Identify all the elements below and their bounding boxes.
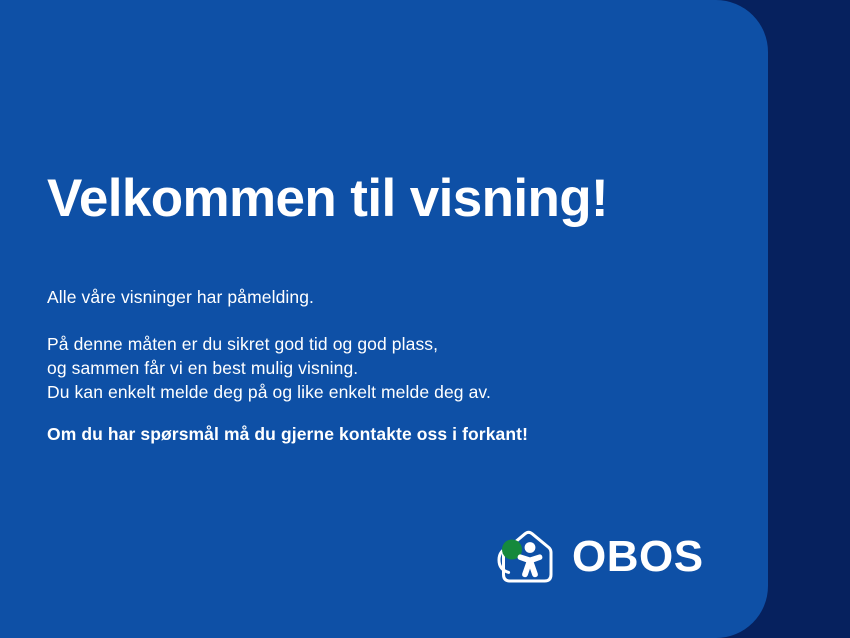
body-line-2: og sammen får vi en best mulig visning.	[47, 356, 491, 380]
obos-logo: OBOS	[495, 528, 715, 586]
obos-wordmark: OBOS	[572, 535, 704, 579]
body-line-1: På denne måten er du sikret god tid og g…	[47, 332, 491, 356]
presentation-slide: Velkommen til visning! Alle våre visning…	[0, 0, 850, 638]
obos-house-person-icon	[495, 529, 561, 585]
body-line-3: Du kan enkelt melde deg på og like enkel…	[47, 380, 491, 404]
body-text: På denne måten er du sikret god tid og g…	[47, 332, 491, 404]
page-title: Velkommen til visning!	[47, 170, 608, 227]
contact-callout-text: Om du har spørsmål må du gjerne kontakte…	[47, 423, 528, 446]
intro-text: Alle våre visninger har påmelding.	[47, 286, 314, 309]
